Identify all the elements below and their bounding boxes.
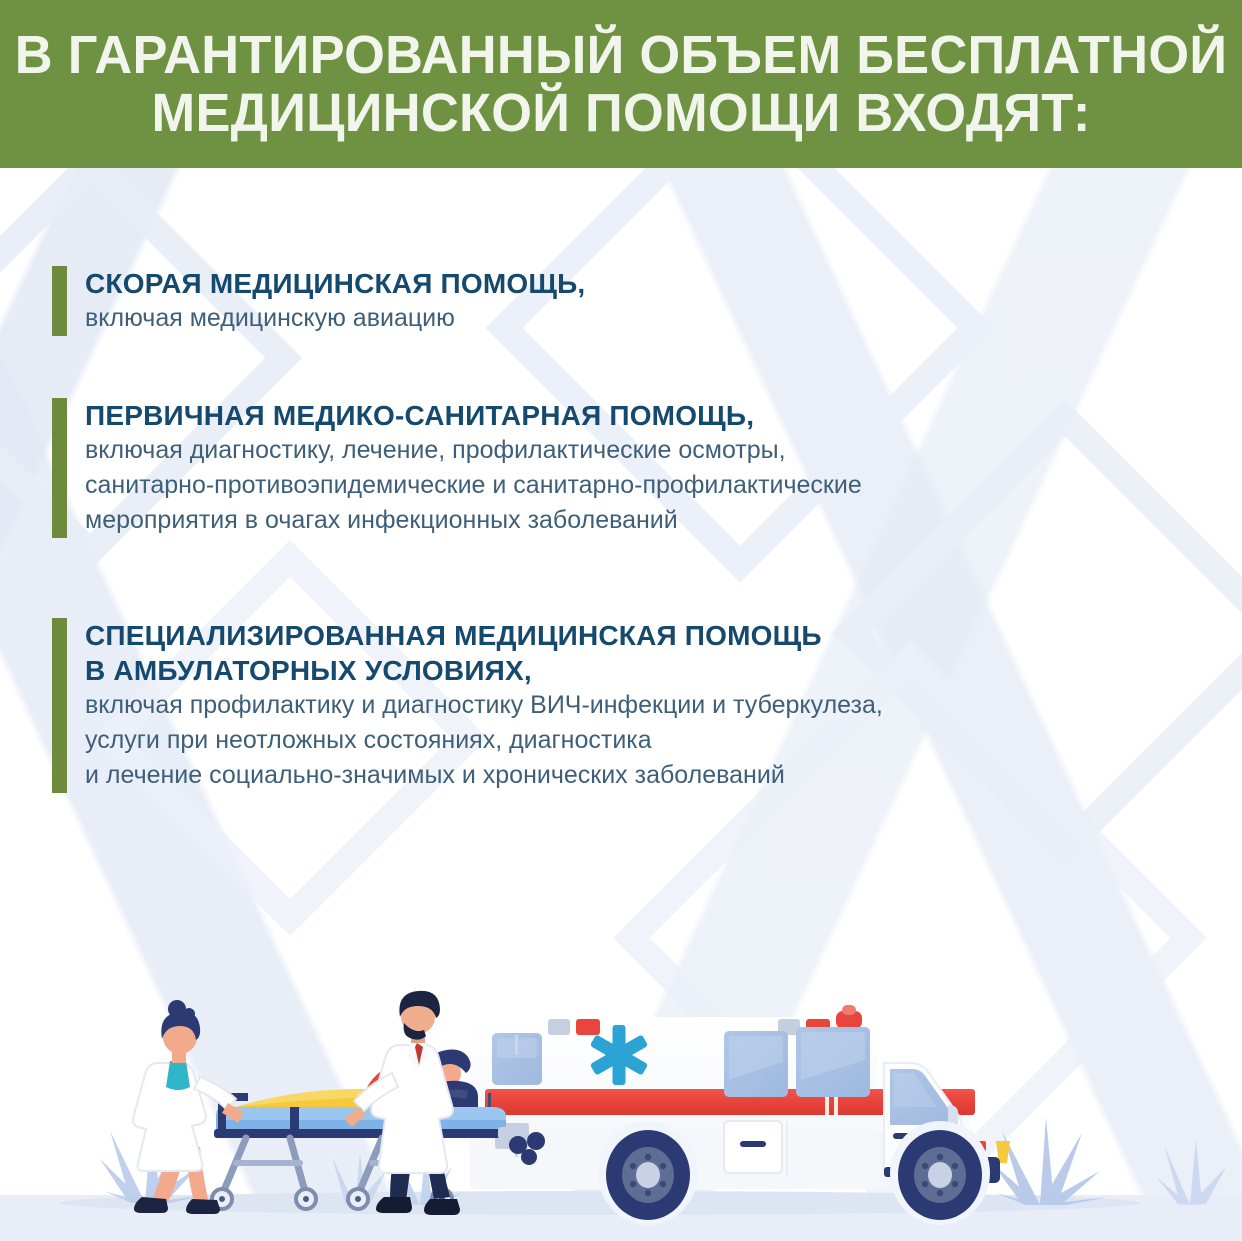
bullet-title: ПЕРВИЧНАЯ МЕДИКО-САНИТАРНАЯ ПОМОЩЬ, xyxy=(85,398,862,433)
roof-light-red xyxy=(576,1019,600,1035)
poster-header: В ГАРАНТИРОВАННЫЙ ОБЪЕМ БЕСПЛАТНОЙ МЕДИЦ… xyxy=(0,0,1242,168)
header-title-line-2: МЕДИЦИНСКОЙ ПОМОЩИ ВХОДЯТ: xyxy=(151,84,1090,142)
infographic-poster: В ГАРАНТИРОВАННЫЙ ОБЪЕМ БЕСПЛАТНОЙ МЕДИЦ… xyxy=(0,0,1242,1241)
ambulance-front-wheel xyxy=(890,1121,990,1225)
ambulance-van xyxy=(470,984,1010,1225)
bullet-body: СКОРАЯ МЕДИЦИНСКАЯ ПОМОЩЬ, включая медиц… xyxy=(85,266,585,336)
bullet-detail-line: услуги при неотложных состояниях, диагно… xyxy=(85,723,883,758)
bullet-detail-line: и лечение социально-значимых и хроническ… xyxy=(85,758,883,793)
bullet-body: ПЕРВИЧНАЯ МЕДИКО-САНИТАРНАЯ ПОМОЩЬ, вклю… xyxy=(85,398,862,538)
bullet-detail-line: включая профилактику и диагностику ВИЧ-и… xyxy=(85,688,883,723)
medic-scrub-top xyxy=(166,1061,190,1090)
bullet-accent-bar xyxy=(52,398,67,538)
medic-coat xyxy=(371,1045,453,1173)
roof-light-clear xyxy=(548,1019,570,1035)
bullet-detail-line: включая медицинскую авиацию xyxy=(85,301,585,336)
bullet-title-second-line: В АМБУЛАТОРНЫХ УСЛОВИЯХ, xyxy=(85,653,883,688)
bullet-body: СПЕЦИАЛИЗИРОВАННАЯ МЕДИЦИНСКАЯ ПОМОЩЬ В … xyxy=(85,618,883,793)
bullet-detail-line: мероприятия в очагах инфекционных заболе… xyxy=(85,503,862,538)
plant-right xyxy=(992,1117,1108,1205)
bullet-item-emergency-care: СКОРАЯ МЕДИЦИНСКАЯ ПОМОЩЬ, включая медиц… xyxy=(52,266,585,336)
bullet-item-specialized-care: СПЕЦИАЛИЗИРОВАННАЯ МЕДИЦИНСКАЯ ПОМОЩЬ В … xyxy=(52,618,883,793)
bullet-detail-line: санитарно-противоэпидемические и санитар… xyxy=(85,468,862,503)
bullet-accent-bar xyxy=(52,618,67,793)
ambulance-rear-wheel xyxy=(598,1121,698,1225)
bullet-accent-bar xyxy=(52,266,67,336)
bullet-title: СПЕЦИАЛИЗИРОВАННАЯ МЕДИЦИНСКАЯ ПОМОЩЬ xyxy=(85,618,883,653)
bullet-detail-line: включая диагностику, лечение, профилакти… xyxy=(85,433,862,468)
ambulance-illustration xyxy=(0,981,1242,1241)
bullet-title: СКОРАЯ МЕДИЦИНСКАЯ ПОМОЩЬ, xyxy=(85,266,585,301)
bullet-item-primary-care: ПЕРВИЧНАЯ МЕДИКО-САНИТАРНАЯ ПОМОЩЬ, вклю… xyxy=(52,398,862,538)
header-title-line-1: В ГАРАНТИРОВАННЫЙ ОБЪЕМ БЕСПЛАТНОЙ xyxy=(15,26,1228,84)
background-shape xyxy=(832,400,1242,867)
